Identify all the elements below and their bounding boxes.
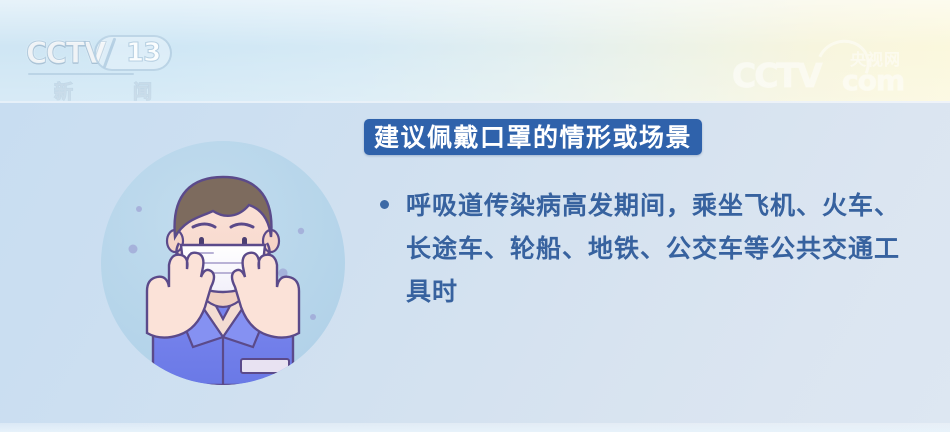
cctv-13-logo: CCTV 13 新 闻 bbox=[26, 36, 172, 98]
content-top-divider bbox=[0, 101, 950, 103]
cctv-subtitle-char-2: 闻 bbox=[133, 77, 152, 104]
bullet-dot-icon bbox=[380, 200, 389, 209]
watermark-cctv-text: CCTV bbox=[732, 56, 821, 95]
cctv-channel-subtitle: 新 闻 bbox=[54, 77, 152, 104]
bullet-list-item: 呼吸道传染病高发期间，乘坐飞机、火车、长途车、轮船、地铁、公交车等公共交通工具时 bbox=[380, 184, 900, 313]
cctv-underline-rule bbox=[28, 73, 134, 75]
content-bottom-divider bbox=[0, 423, 950, 432]
cctv-wordmark: CCTV bbox=[26, 36, 105, 70]
bullet-item-text: 呼吸道传染病高发期间，乘坐飞机、火车、长途车、轮船、地铁、公交车等公共交通工具时 bbox=[406, 184, 900, 313]
broadcaster-header-band: CCTV 13 新 闻 CCTV 央视网 com bbox=[0, 0, 950, 101]
slide-title-text: 建议佩戴口罩的情形或场景 bbox=[374, 125, 692, 150]
cctv-logo-row: CCTV 13 bbox=[26, 36, 172, 70]
slide-content-area: 建议佩戴口罩的情形或场景 呼吸道传染病高发期间，乘坐飞机、火车、长途车、轮船、地… bbox=[0, 101, 950, 432]
cctv-com-watermark: CCTV 央视网 com bbox=[732, 38, 922, 96]
slide-title-banner: 建议佩戴口罩的情形或场景 bbox=[364, 119, 702, 155]
person-wearing-mask-illustration bbox=[101, 141, 345, 385]
watermark-domain-text: com bbox=[842, 64, 904, 97]
cctv-channel-number: 13 bbox=[126, 38, 160, 68]
broadcast-screen: CCTV 13 新 闻 CCTV 央视网 com bbox=[0, 0, 950, 432]
cctv-subtitle-char-1: 新 bbox=[54, 77, 73, 104]
